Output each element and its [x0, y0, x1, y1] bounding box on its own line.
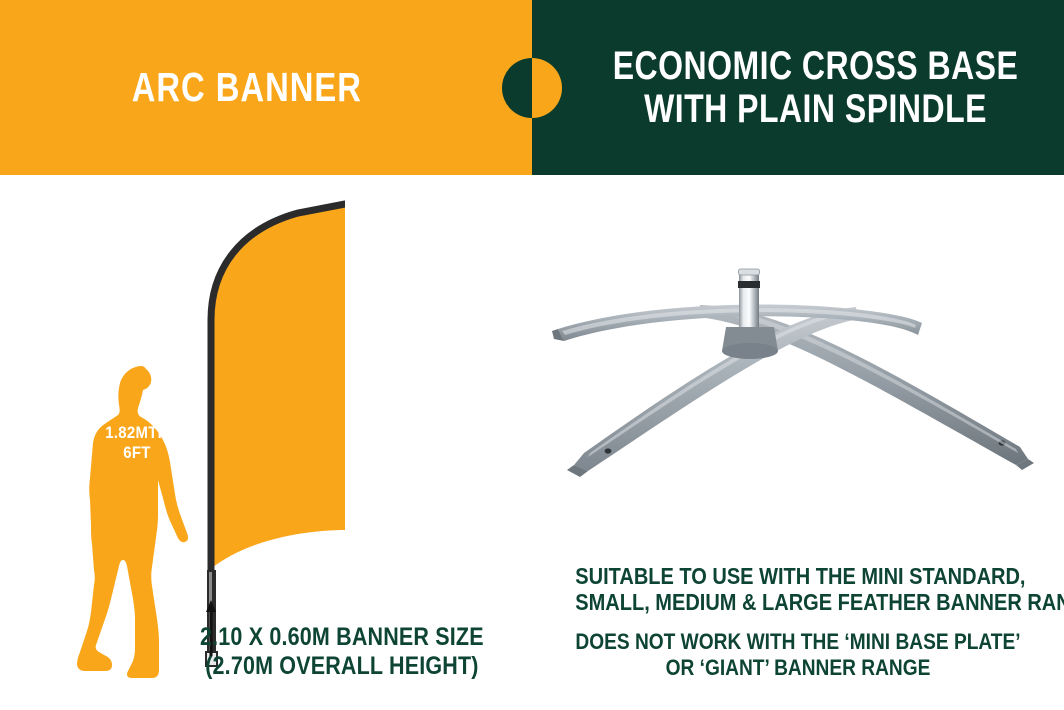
- note-supported-line2: SMALL, MEDIUM & LARGE FEATHER BANNER RAN…: [575, 589, 1020, 615]
- arc-banner-flag-icon: [185, 200, 345, 670]
- header-bar: ARC BANNER ECONOMIC CROSS BASE WITH PLAI…: [0, 0, 1064, 175]
- cross-base-arm-left: [567, 307, 858, 477]
- split-circle-left-half: [502, 58, 532, 118]
- note-unsupported-line1: DOES NOT WORK WITH THE ‘MINI BASE PLATE’: [575, 629, 1020, 654]
- compatibility-note-supported: SUITABLE TO USE WITH THE MINI STANDARD, …: [575, 563, 1020, 615]
- banner-size-line2: (2.70M OVERALL HEIGHT): [200, 652, 484, 681]
- note-supported-line1: SUITABLE TO USE WITH THE MINI STANDARD,: [575, 563, 1020, 589]
- header-right-panel: ECONOMIC CROSS BASE WITH PLAIN SPINDLE: [532, 0, 1064, 175]
- banner-size-caption: 2.10 X 0.60M BANNER SIZE (2.70M OVERALL …: [200, 623, 484, 680]
- spec-sheet: ARC BANNER ECONOMIC CROSS BASE WITH PLAI…: [0, 0, 1064, 710]
- product-title-left: ARC BANNER: [132, 67, 362, 108]
- note-unsupported-line2: OR ‘GIANT’ BANNER RANGE: [575, 655, 1020, 680]
- header-left-panel: ARC BANNER: [0, 0, 532, 175]
- product-title-right: ECONOMIC CROSS BASE WITH PLAIN SPINDLE: [612, 45, 1018, 131]
- compatibility-notes: SUITABLE TO USE WITH THE MINI STANDARD, …: [542, 563, 1054, 680]
- product-title-right-line1: ECONOMIC CROSS BASE: [612, 45, 1018, 88]
- banner-size-line1: 2.10 X 0.60M BANNER SIZE: [200, 623, 484, 652]
- split-circle-right-half: [532, 58, 562, 118]
- cross-base-photo-pane: SUITABLE TO USE WITH THE MINI STANDARD, …: [532, 175, 1064, 710]
- cross-base-center-joint: [722, 327, 778, 359]
- cross-base-product-image: [550, 255, 1050, 505]
- compatibility-note-unsupported: DOES NOT WORK WITH THE ‘MINI BASE PLATE’…: [575, 629, 1020, 679]
- split-circle-divider-icon: [502, 58, 562, 118]
- person-silhouette-icon: [72, 360, 202, 680]
- product-title-right-line2: WITH PLAIN SPINDLE: [612, 88, 1018, 131]
- arc-banner-illustration-pane: 1.82MTR 6FT 2.10 X 0.60M BANNER SIZE (2.…: [0, 175, 532, 710]
